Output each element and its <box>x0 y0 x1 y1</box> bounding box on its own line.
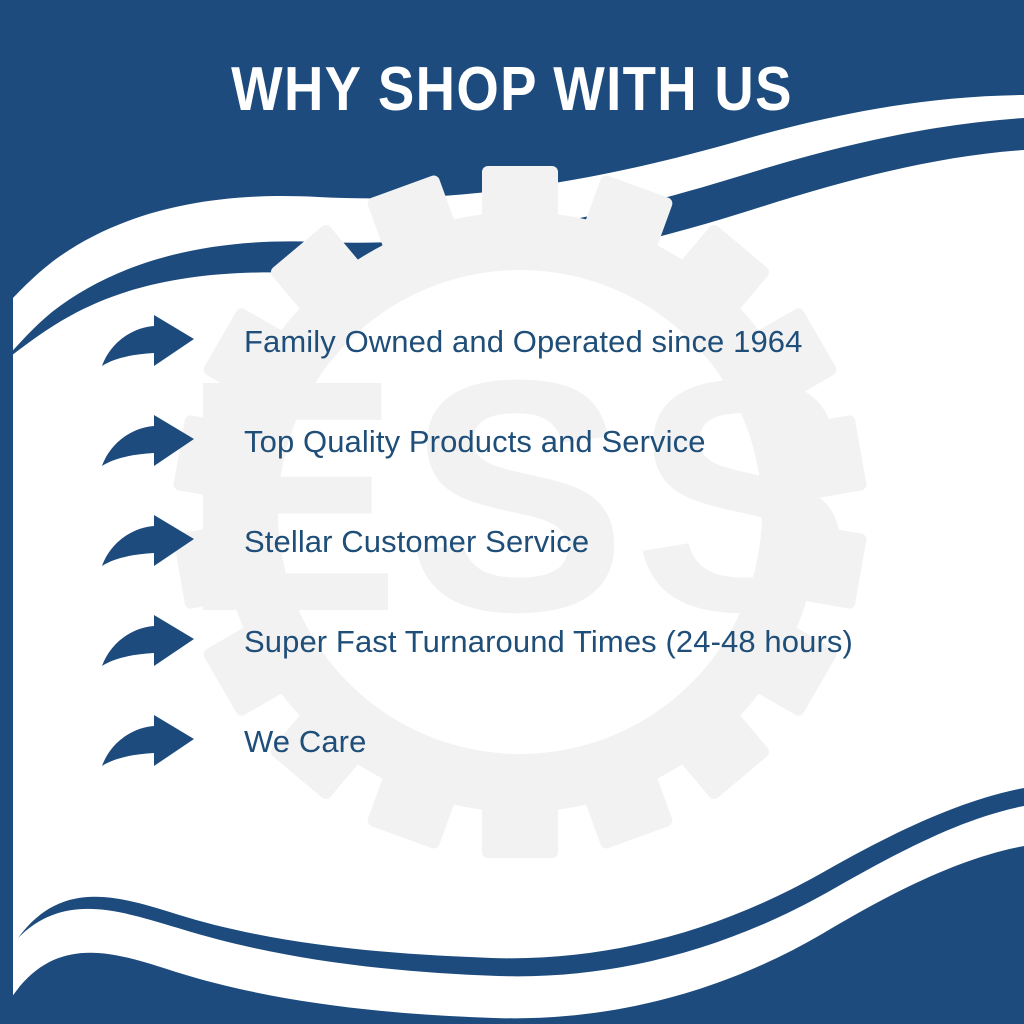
list-item: We Care <box>100 692 1000 792</box>
benefits-list: Family Owned and Operated since 1964 Top… <box>100 292 1000 792</box>
curved-arrow-right-icon <box>100 414 196 470</box>
page-title: WHY SHOP WITH US <box>61 54 962 126</box>
benefit-label: Super Fast Turnaround Times (24-48 hours… <box>244 624 1000 660</box>
list-item: Stellar Customer Service <box>100 492 1000 592</box>
curved-arrow-right-icon <box>100 314 196 370</box>
list-item: Top Quality Products and Service <box>100 392 1000 492</box>
benefit-label: Top Quality Products and Service <box>244 424 1000 460</box>
list-item: Super Fast Turnaround Times (24-48 hours… <box>100 592 1000 692</box>
curved-arrow-right-icon <box>100 714 196 770</box>
benefit-label: We Care <box>244 724 1000 760</box>
list-item: Family Owned and Operated since 1964 <box>100 292 1000 392</box>
benefit-label: Family Owned and Operated since 1964 <box>244 324 1000 360</box>
benefit-label: Stellar Customer Service <box>244 524 1000 560</box>
curved-arrow-right-icon <box>100 514 196 570</box>
why-shop-with-us-banner: ESS WHY SHOP WITH US Family Owned and Op… <box>0 0 1024 1024</box>
curved-arrow-right-icon <box>100 614 196 670</box>
